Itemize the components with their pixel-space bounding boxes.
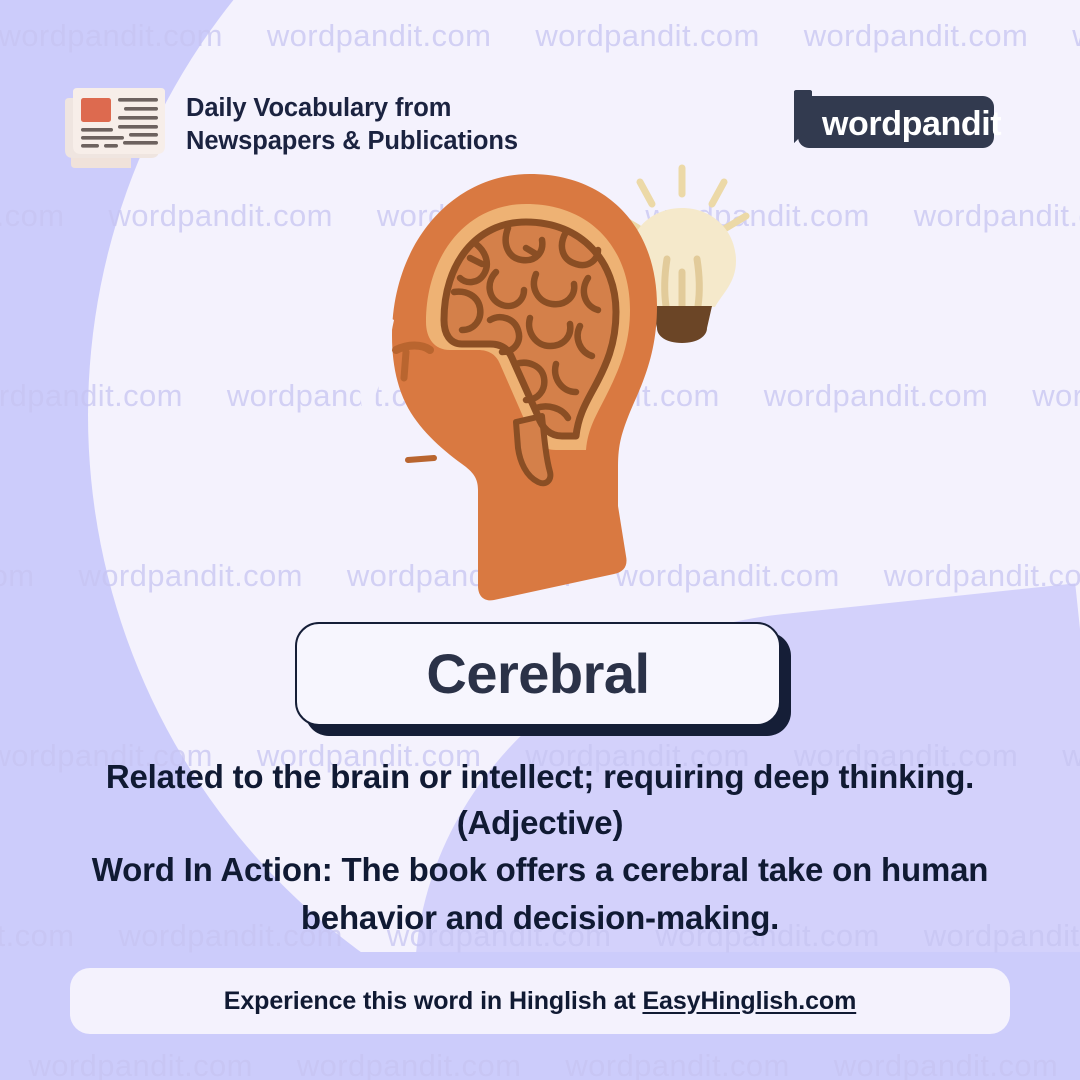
word-card: Cerebral <box>295 622 781 726</box>
header-title-line1: Daily Vocabulary from <box>186 92 518 125</box>
wordpandit-logo-text: wordpandit <box>821 105 1001 143</box>
mouth-line <box>408 458 434 460</box>
header-title-line2: Newspapers & Publications <box>186 125 518 158</box>
newspaper-icon <box>57 78 175 170</box>
wordpandit-logo-mark: wordpandit <box>778 90 1002 154</box>
easyhinglish-link[interactable]: EasyHinglish.com <box>642 987 856 1015</box>
header: Daily Vocabulary from Newspapers & Publi… <box>0 72 1080 168</box>
nose-bridge-line <box>404 352 406 378</box>
wordpandit-logo[interactable]: wordpandit <box>778 90 1002 154</box>
footer-text: Experience this word in Hinglish at Easy… <box>224 987 856 1016</box>
vocabulary-card-image: wordpandit.comwordpandit.comwordpandit.c… <box>0 0 1080 1080</box>
header-title: Daily Vocabulary from Newspapers & Publi… <box>186 92 518 157</box>
footer-bar[interactable]: Experience this word in Hinglish at Easy… <box>70 968 1010 1034</box>
head-with-brain-and-lightbulb-illustration <box>330 160 750 620</box>
word-card-body: Cerebral <box>295 622 781 726</box>
word-in-action-sentence: Word In Action: The book offers a cerebr… <box>40 846 1040 942</box>
footer-prefix: Experience this word in Hinglish at <box>224 987 643 1015</box>
word-definition: Related to the brain or intellect; requi… <box>54 754 1026 845</box>
eyebrow <box>396 346 430 351</box>
vocabulary-word: Cerebral <box>426 646 649 702</box>
